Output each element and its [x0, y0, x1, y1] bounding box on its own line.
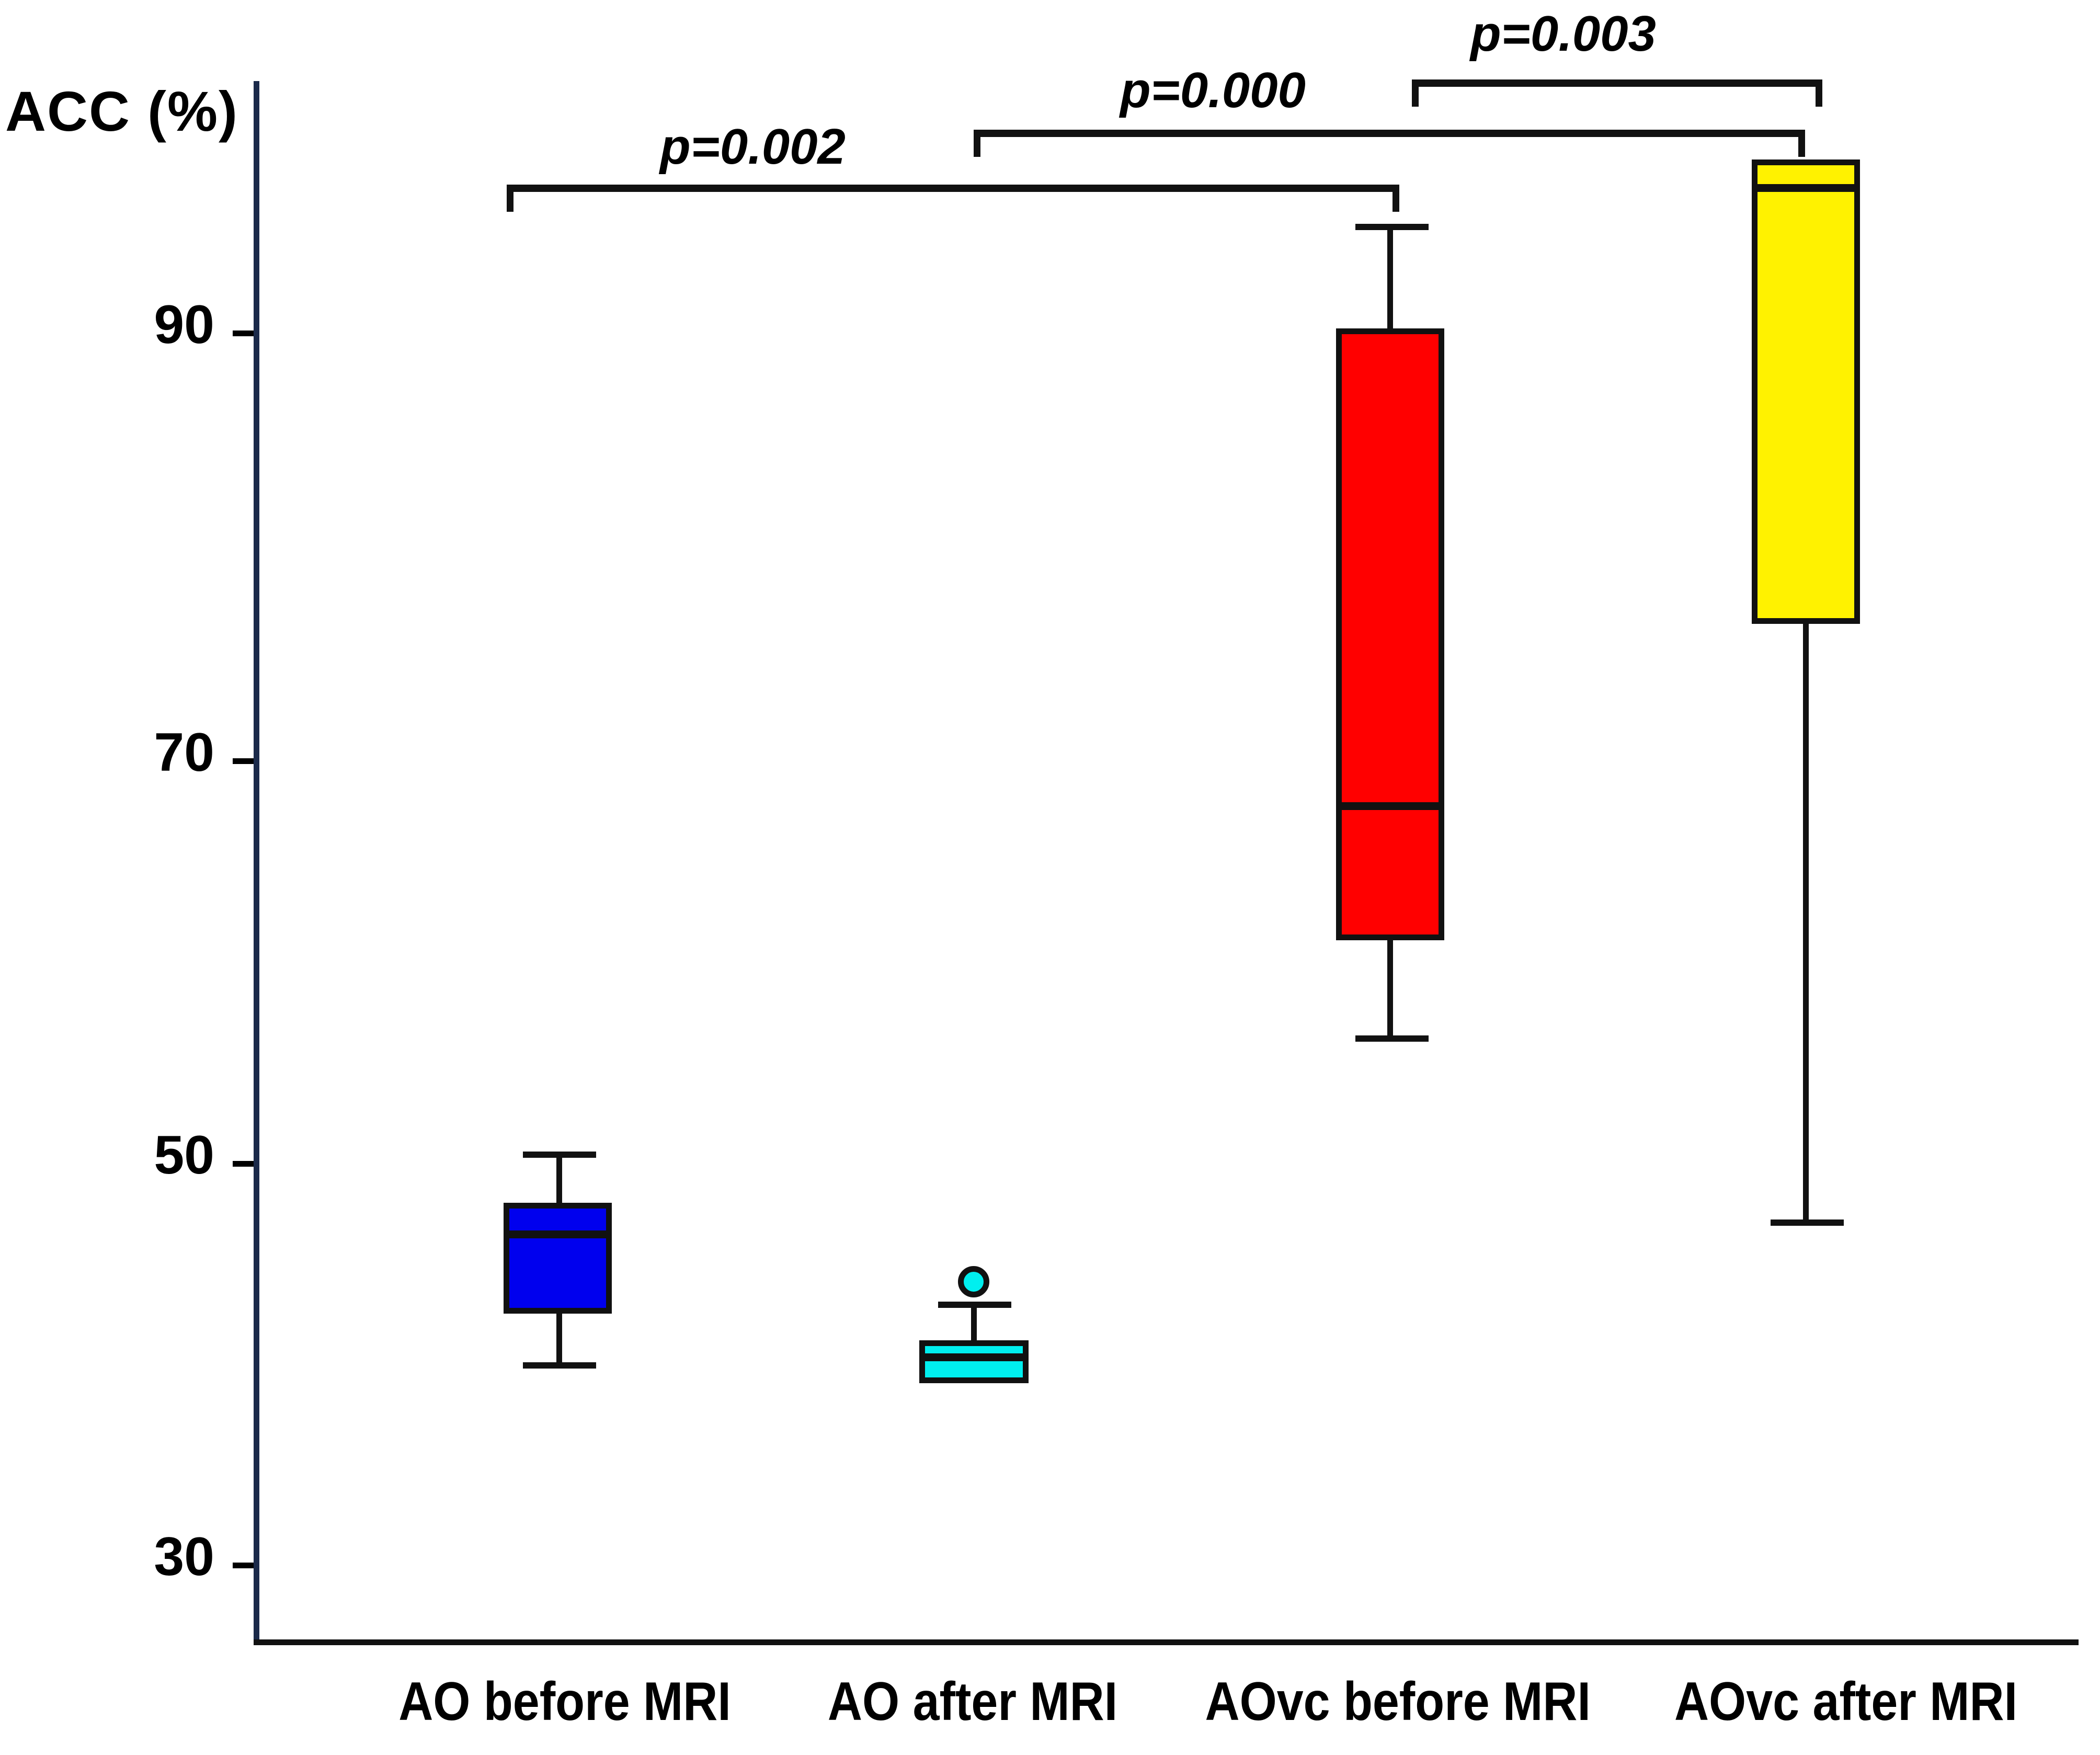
significance-label-2: p=0.000	[1120, 62, 1306, 119]
whisker-cap-lower	[1771, 1220, 1844, 1226]
bracket-horizontal-line	[1412, 79, 1822, 87]
bracket-right-tick	[1798, 130, 1805, 157]
whisker-line-upper	[556, 1152, 562, 1206]
x-axis-label-aovc-before-mri: AOvc before MRI	[1205, 1671, 1585, 1733]
median-line	[1336, 802, 1444, 810]
significance-label-3: p=0.003	[1470, 5, 1656, 63]
y-tick-label-90: 90	[154, 294, 214, 356]
y-tick-mark-70	[233, 758, 254, 764]
x-axis-label-ao-after-mri: AO after MRI	[802, 1671, 1143, 1733]
whisker-cap-lower	[523, 1362, 596, 1369]
x-axis-label-aovc-after-mri: AOvc after MRI	[1639, 1671, 2053, 1733]
y-tick-mark-30	[233, 1563, 254, 1568]
y-tick-label-30: 30	[154, 1526, 214, 1588]
outlier-point	[958, 1266, 989, 1297]
whisker-line-lower	[1387, 939, 1393, 1041]
significance-bracket-3	[1412, 79, 1822, 107]
box-ao-before-mri	[504, 1203, 612, 1314]
bracket-horizontal-line	[974, 130, 1805, 137]
box-ao-after-mri	[919, 1340, 1029, 1383]
y-tick-label-70: 70	[154, 722, 214, 784]
y-axis-title: ACC (%)	[5, 78, 238, 144]
bracket-right-tick	[1393, 185, 1399, 212]
whisker-cap-lower	[1355, 1035, 1429, 1042]
significance-bracket-2	[974, 130, 1805, 157]
y-tick-mark-50	[233, 1161, 254, 1167]
whisker-line-upper	[1387, 224, 1393, 331]
bracket-left-tick	[974, 130, 980, 157]
median-line	[504, 1230, 612, 1238]
median-line	[919, 1353, 1029, 1361]
y-tick-mark-90	[233, 331, 254, 336]
significance-label-1: p=0.002	[660, 118, 846, 176]
x-axis-label-ao-before-mri: AO before MRI	[381, 1671, 749, 1733]
boxplot-figure: ACC (%) 90 70 50 30	[0, 0, 2100, 1755]
y-axis-line	[254, 81, 259, 1645]
box-aovc-after-mri	[1752, 159, 1860, 624]
box-aovc-before-mri	[1336, 328, 1444, 940]
x-axis-line	[254, 1639, 2079, 1645]
bracket-left-tick	[507, 185, 513, 212]
whisker-line-upper	[971, 1302, 977, 1344]
bracket-horizontal-line	[507, 185, 1399, 192]
y-tick-label-50: 50	[154, 1124, 214, 1187]
whisker-line-lower	[556, 1312, 562, 1365]
median-line	[1752, 184, 1860, 192]
bracket-left-tick	[1412, 79, 1419, 107]
bracket-right-tick	[1816, 79, 1822, 107]
whisker-line-lower	[1803, 622, 1809, 1224]
significance-bracket-1	[507, 185, 1399, 212]
